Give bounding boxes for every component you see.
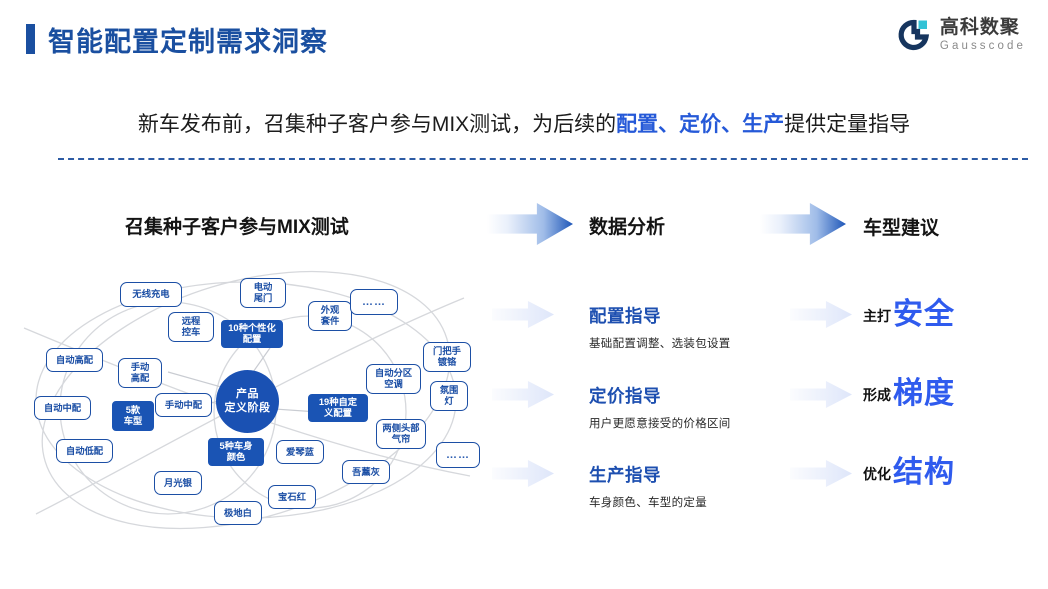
subtitle-highlight: 配置、定价、生产	[616, 113, 784, 136]
row-arrow-icon-left-3	[492, 460, 554, 487]
title-accent-bar	[26, 24, 35, 54]
slide-canvas: 智能配置定制需求洞察 高科数聚 Gausscode 新车发布前，召集种子客户参与…	[0, 0, 1048, 589]
logo-name-cn: 高科数聚	[940, 18, 1026, 37]
suggestion-word: 安全	[893, 300, 955, 330]
subtitle-part2: 提供定量指导	[784, 113, 910, 136]
mindmap-node-manual-high: 手动 高配	[118, 358, 162, 388]
page-title: 智能配置定制需求洞察	[48, 20, 328, 59]
analysis-title: 生产指导	[589, 462, 819, 487]
section-divider	[58, 158, 1028, 160]
mindmap-node-nineteen-custom: 19种自定 义配置	[308, 394, 368, 422]
analysis-title: 定价指导	[589, 383, 819, 408]
mindmap-diagram: 产品 定义阶段 无线充电电动 尾门远程 控车外观 套件……10种个性化 配置自动…	[18, 262, 488, 532]
mindmap-node-appearance-kit: 外观 套件	[308, 301, 352, 331]
suggestion-item-tier: 形成 梯度	[863, 379, 955, 409]
mindmap-node-five-body-colors: 5种车身 颜色	[208, 438, 264, 466]
analysis-item-production: 生产指导 车身颜色、车型的定量	[589, 462, 819, 510]
gausscode-logo-icon	[895, 18, 931, 52]
column-header-collect: 召集种子客户参与MIX测试	[125, 212, 349, 239]
flow-arrow-icon-2	[760, 203, 846, 245]
mindmap-node-ten-personalized: 10种个性化 配置	[221, 320, 283, 348]
mindmap-node-remote-control: 远程 控车	[168, 312, 214, 342]
mindmap-node-ambient-light: 氛围 灯	[430, 381, 468, 411]
suggestion-prefix: 主打	[863, 306, 891, 330]
mindmap-node-ruby-red: 宝石红	[268, 485, 316, 509]
mindmap-node-auto-mid: 自动中配	[34, 396, 91, 420]
row-arrow-icon-left-1	[492, 301, 554, 328]
flow-arrow-icon-1	[487, 203, 573, 245]
suggestion-item-safety: 主打 安全	[863, 300, 955, 330]
analysis-desc: 车身颜色、车型的定量	[589, 494, 819, 510]
mindmap-node-lavender-grey: 吾薰灰	[342, 460, 390, 484]
suggestion-word: 结构	[893, 458, 955, 488]
mindmap-node-polar-white: 极地白	[214, 501, 262, 525]
mindmap-node-manual-mid: 手动中配	[155, 393, 212, 417]
subtitle-part1: 新车发布前，召集种子客户参与MIX测试，为后续的	[138, 113, 616, 136]
mindmap-node-five-models: 5款 车型	[112, 401, 154, 431]
column-header-suggestion: 车型建议	[863, 213, 939, 240]
mindmap-hub: 产品 定义阶段	[216, 370, 279, 433]
mindmap-node-door-handle-chrome: 门把手 镀铬	[423, 342, 471, 372]
logo-text-block: 高科数聚 Gausscode	[940, 18, 1026, 53]
mindmap-node-aegean-blue: 爱琴蓝	[276, 440, 324, 464]
analysis-desc: 基础配置调整、选装包设置	[589, 335, 819, 351]
mindmap-node-auto-low: 自动低配	[56, 439, 113, 463]
analysis-desc: 用户更愿意接受的价格区间	[589, 415, 819, 431]
mindmap-node-ellipsis-bottom: ……	[436, 442, 480, 468]
slide-header: 智能配置定制需求洞察 高科数聚 Gausscode	[0, 0, 1048, 76]
suggestion-item-structure: 优化 结构	[863, 458, 955, 488]
suggestion-prefix: 优化	[863, 464, 891, 488]
suggestion-prefix: 形成	[863, 385, 891, 409]
logo-name-en: Gausscode	[940, 41, 1026, 53]
mindmap-node-auto-high: 自动高配	[46, 348, 103, 372]
mindmap-node-power-tailgate: 电动 尾门	[240, 278, 286, 308]
mindmap-node-ellipsis-top: ……	[350, 289, 398, 315]
row-arrow-icon-left-2	[492, 381, 554, 408]
analysis-title: 配置指导	[589, 303, 819, 328]
mindmap-node-auto-zone-ac: 自动分区 空调	[366, 364, 421, 394]
analysis-item-pricing: 定价指导 用户更愿意接受的价格区间	[589, 383, 819, 431]
column-header-analysis: 数据分析	[589, 212, 665, 239]
brand-logo: 高科数聚 Gausscode	[895, 18, 1026, 53]
mindmap-node-side-head-airbag: 两侧头部 气帘	[376, 419, 426, 449]
suggestion-word: 梯度	[893, 379, 955, 409]
mindmap-node-moonlight-silver: 月光银	[154, 471, 202, 495]
mindmap-node-wireless-charging: 无线充电	[120, 282, 182, 307]
subtitle-line: 新车发布前，召集种子客户参与MIX测试，为后续的配置、定价、生产提供定量指导	[0, 108, 1048, 138]
analysis-item-config: 配置指导 基础配置调整、选装包设置	[589, 303, 819, 351]
